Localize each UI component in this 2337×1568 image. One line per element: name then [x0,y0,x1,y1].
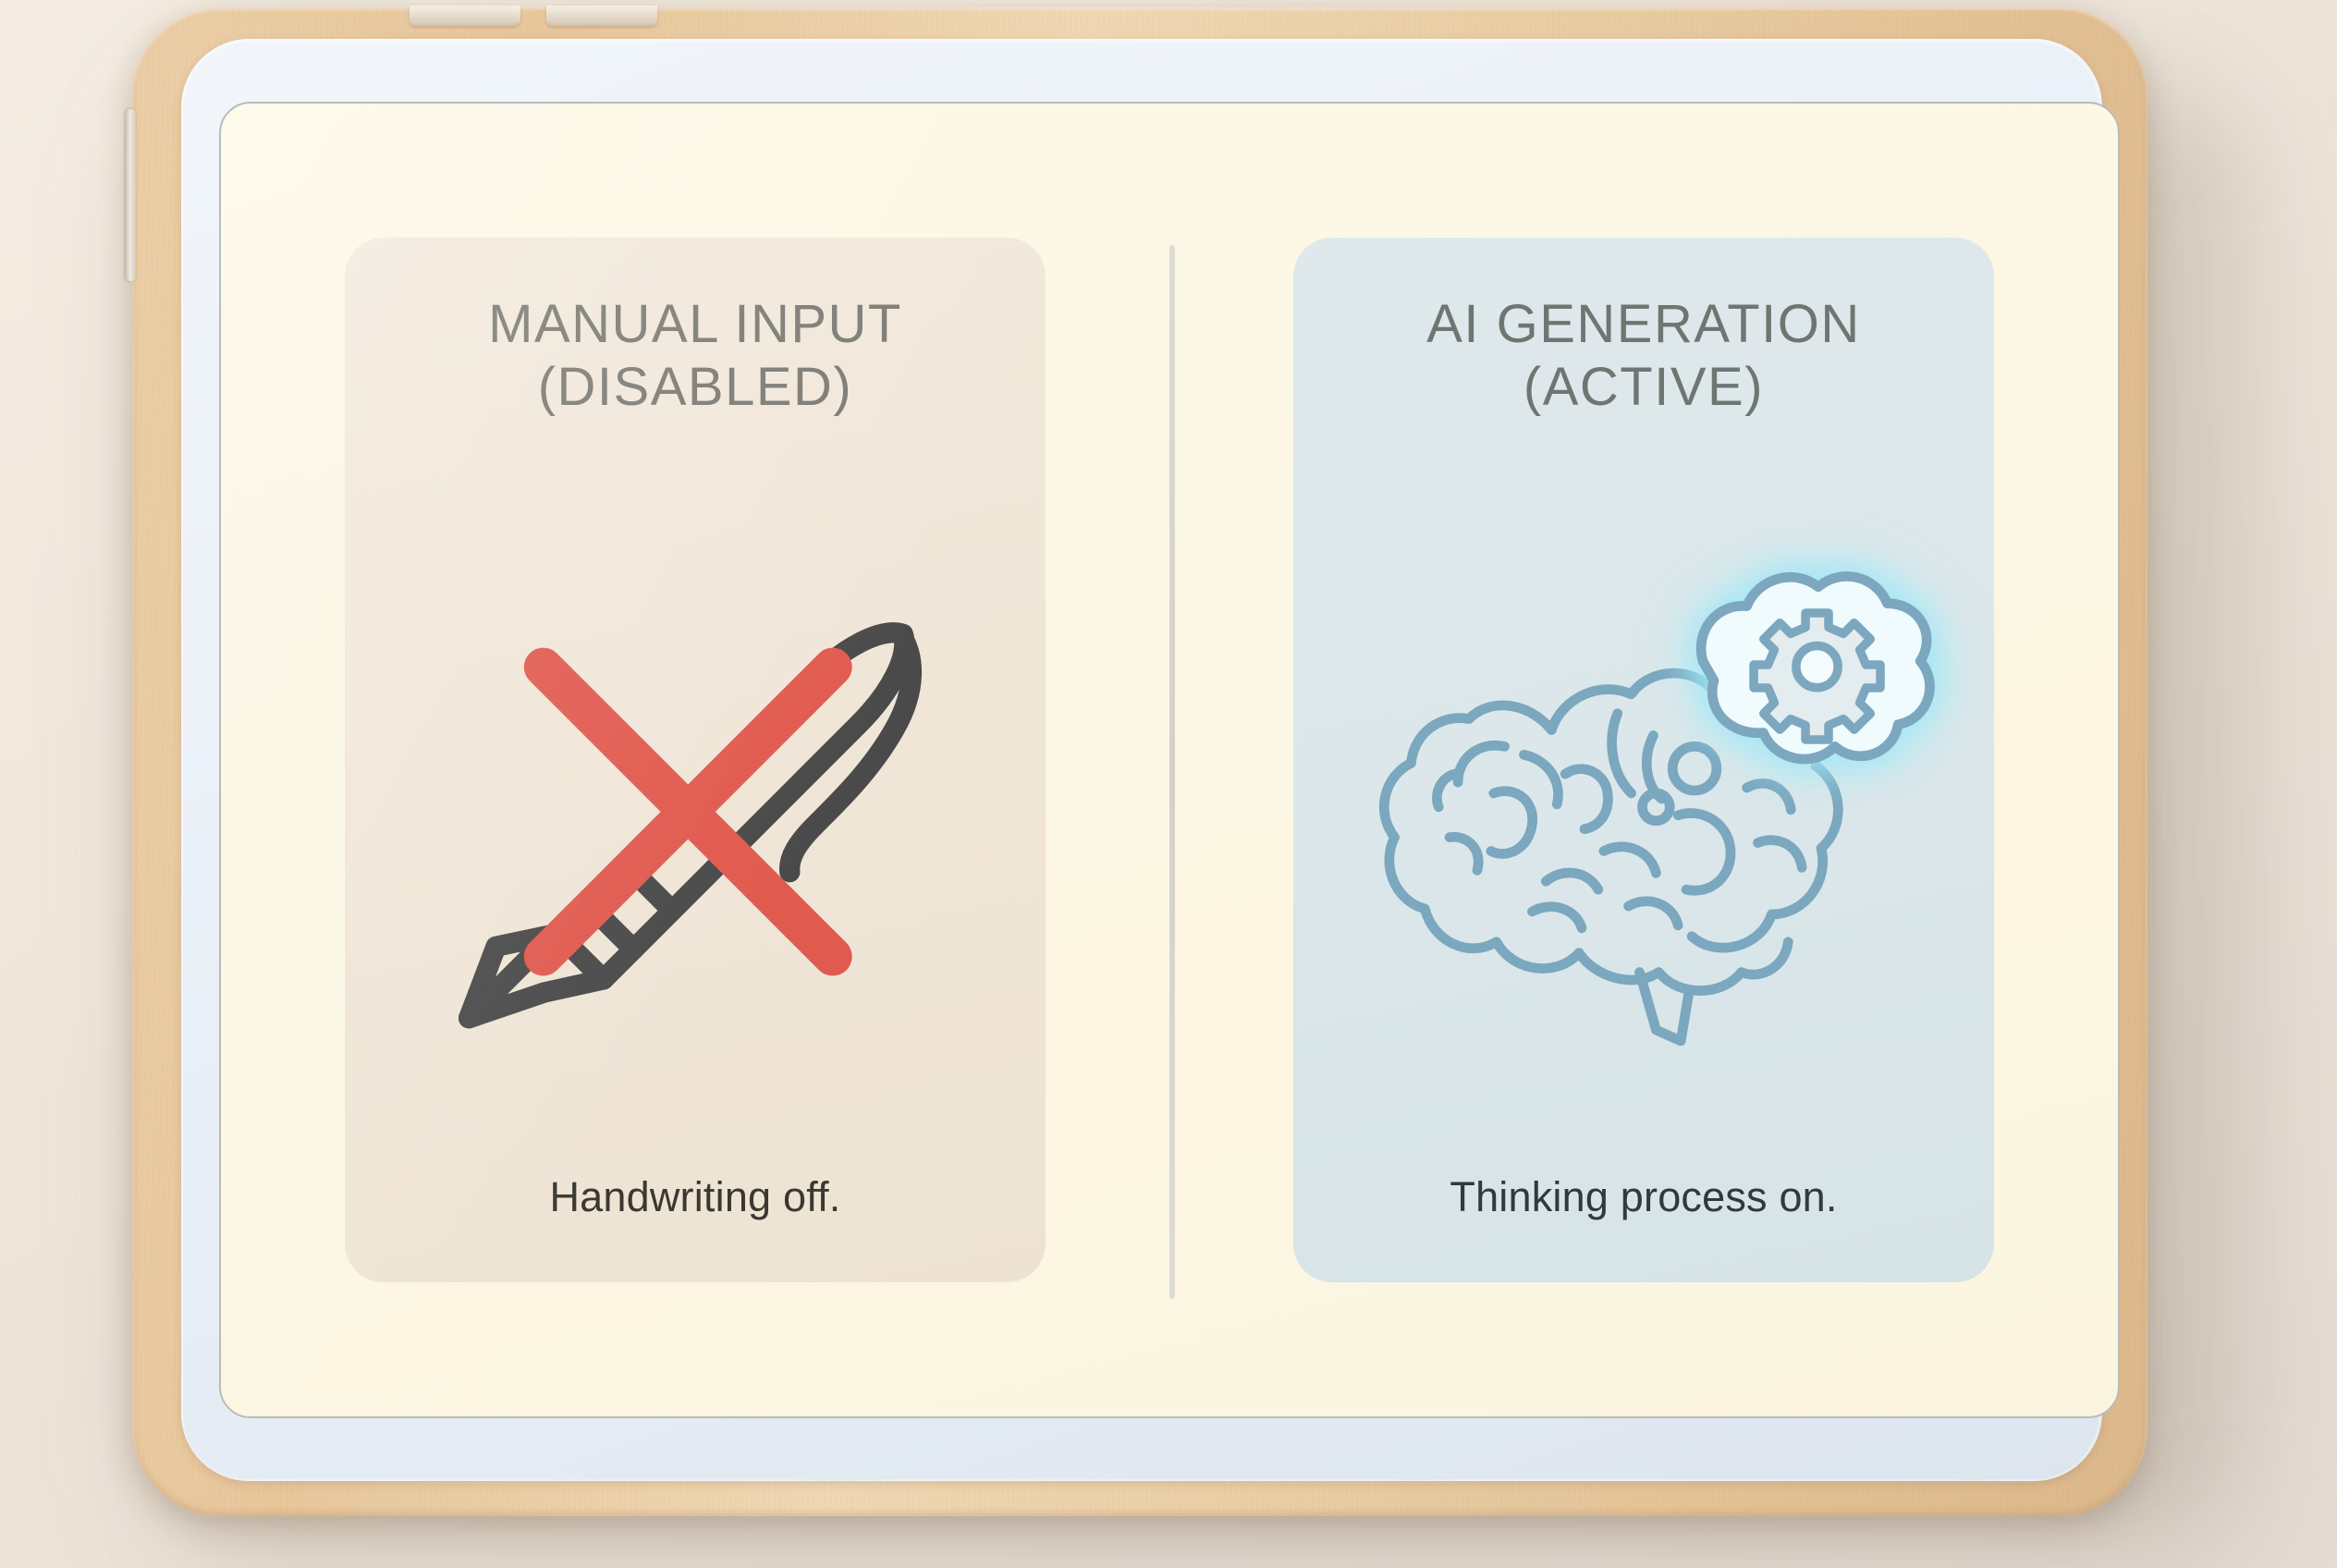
icon-area-ai-generation [1330,420,1957,1173]
brain-with-gear-thought-bubble-icon [1348,519,1939,1073]
thought-bubble-with-gear [1701,577,1929,760]
card-caption-ai-generation: Thinking process on. [1450,1173,1837,1221]
case-clip-right [546,6,657,26]
pane-manual-input: MANUAL INPUT (DISABLED) [221,104,1169,1416]
card-caption-manual-input: Handwriting off. [549,1173,840,1221]
fountain-pen-crossed-out-icon [409,509,982,1083]
pane-ai-generation: AI GENERATION (ACTIVE) [1169,104,2118,1416]
case-clip-left [410,6,520,26]
card-ai-generation[interactable]: AI GENERATION (ACTIVE) [1293,238,1994,1282]
device-side-button[interactable] [126,109,136,281]
red-cross-overlay [544,668,833,957]
card-title-ai-generation: AI GENERATION (ACTIVE) [1426,293,1861,420]
icon-area-manual-input [382,420,1009,1173]
card-manual-input[interactable]: MANUAL INPUT (DISABLED) [345,238,1046,1282]
tablet-screen: MANUAL INPUT (DISABLED) [219,102,2120,1418]
split-comparison-layout: MANUAL INPUT (DISABLED) [221,104,2118,1416]
card-title-manual-input: MANUAL INPUT (DISABLED) [488,293,902,420]
